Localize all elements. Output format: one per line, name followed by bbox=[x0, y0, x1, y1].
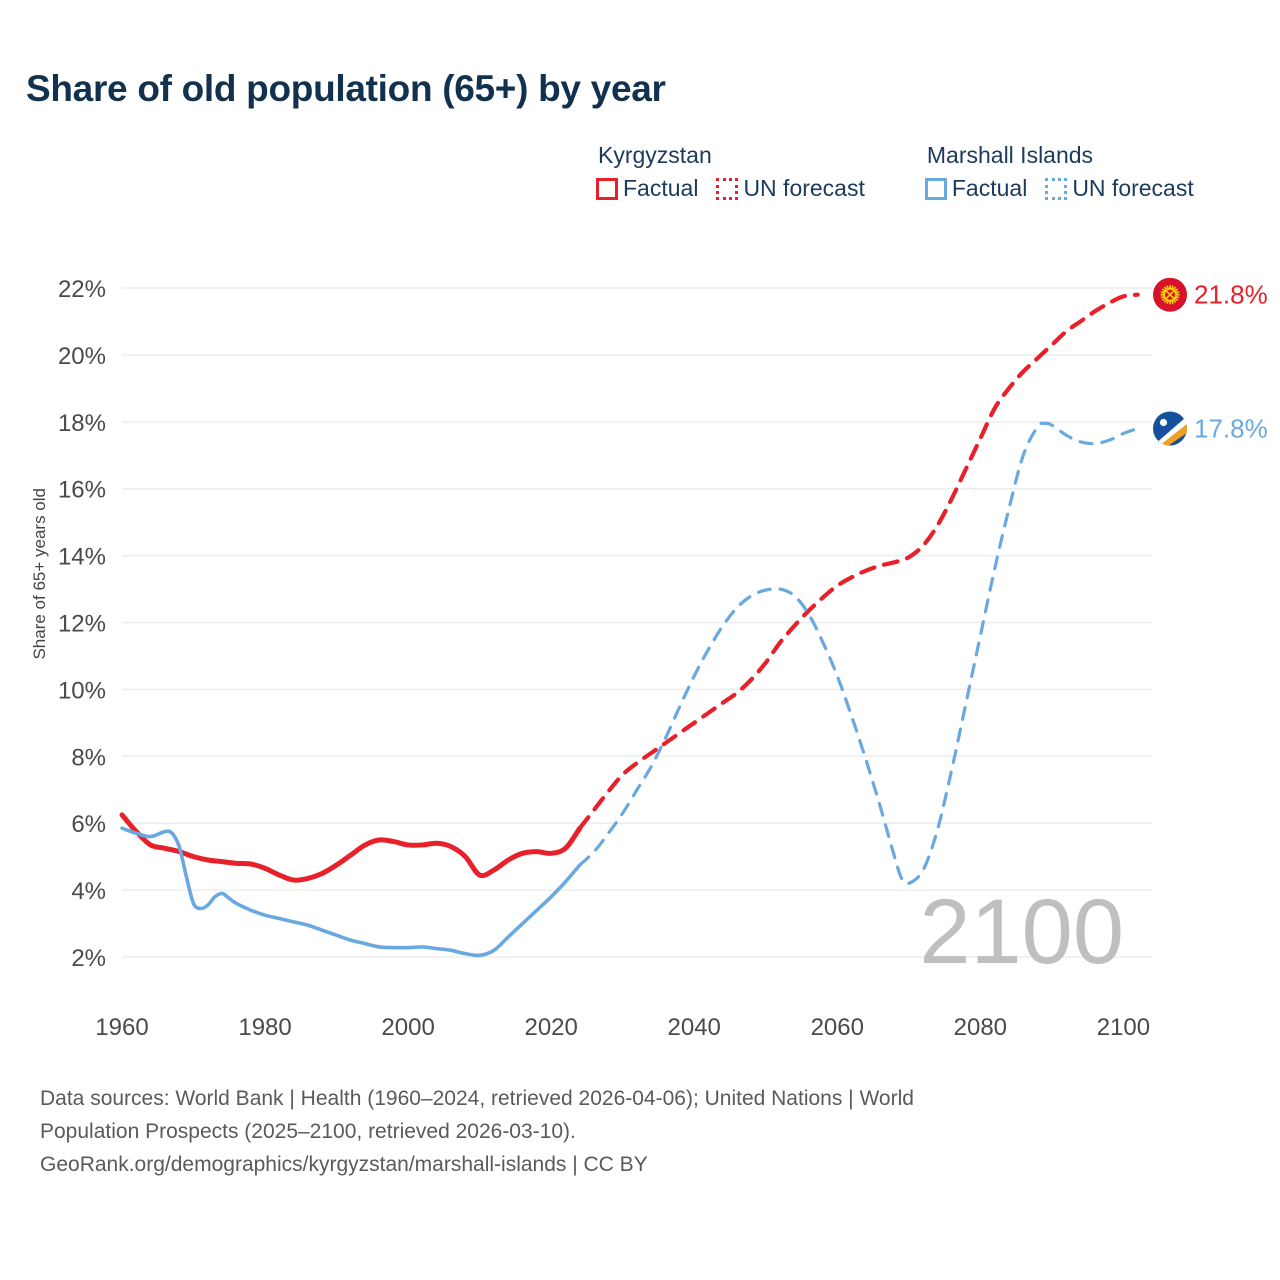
x-axis-tick-label: 1980 bbox=[238, 1014, 291, 1041]
chart-plot: 2%4%6%8%10%12%14%16%18%20%22% 1960198020… bbox=[0, 0, 1280, 1060]
x-axis-tick-labels: 19601980200020202040206020802100 bbox=[95, 1014, 1150, 1041]
kyrgyzstan-flag-icon bbox=[1153, 278, 1187, 312]
series-lines bbox=[122, 295, 1138, 956]
x-axis-tick-label: 2060 bbox=[811, 1014, 864, 1041]
y-axis-tick-labels: 2%4%6%8%10%12%14%16%18%20%22% bbox=[58, 276, 106, 972]
marshall-islands-flag-icon bbox=[1151, 411, 1189, 457]
footer-line-1: Data sources: World Bank | Health (1960–… bbox=[40, 1082, 1220, 1115]
series-line-marshall-islands-factual bbox=[122, 828, 580, 955]
y-axis-tick-label: 8% bbox=[71, 744, 106, 771]
footer-credits: Data sources: World Bank | Health (1960–… bbox=[40, 1082, 1220, 1181]
y-axis-tick-label: 16% bbox=[58, 477, 106, 504]
y-axis-tick-label: 10% bbox=[58, 677, 106, 704]
y-axis-tick-label: 12% bbox=[58, 611, 106, 638]
x-axis-tick-label: 2040 bbox=[668, 1014, 721, 1041]
chart-container: Share of old population (65+) by year Ky… bbox=[0, 0, 1280, 1280]
y-axis-tick-label: 14% bbox=[58, 544, 106, 571]
y-axis-tick-label: 22% bbox=[58, 276, 106, 303]
footer-line-3: GeoRank.org/demographics/kyrgyzstan/mars… bbox=[40, 1148, 1220, 1181]
x-axis-tick-label: 2020 bbox=[524, 1014, 577, 1041]
series-line-kyrgyzstan-forecast bbox=[580, 295, 1138, 829]
series-line-kyrgyzstan-factual bbox=[122, 815, 580, 880]
endpoint-value-marshall-islands: 17.8% bbox=[1194, 413, 1268, 443]
y-axis-tick-label: 6% bbox=[71, 811, 106, 838]
x-axis-tick-label: 1960 bbox=[95, 1014, 148, 1041]
year-watermark: 2100 bbox=[919, 881, 1124, 983]
y-axis-tick-label: 18% bbox=[58, 410, 106, 437]
y-axis-tick-label: 20% bbox=[58, 343, 106, 370]
endpoint-value-kyrgyzstan: 21.8% bbox=[1194, 280, 1268, 310]
footer-line-2: Population Prospects (2025–2100, retriev… bbox=[40, 1115, 1220, 1148]
series-line-marshall-islands-forecast bbox=[580, 423, 1138, 884]
y-axis-tick-label: 4% bbox=[71, 878, 106, 905]
x-axis-tick-label: 2080 bbox=[954, 1014, 1007, 1041]
y-axis-tick-label: 2% bbox=[71, 945, 106, 972]
endpoint-markers: 21.8%17.8% bbox=[1151, 278, 1268, 458]
gridlines bbox=[122, 288, 1152, 957]
x-axis-tick-label: 2000 bbox=[381, 1014, 434, 1041]
x-axis-tick-label: 2100 bbox=[1097, 1014, 1150, 1041]
